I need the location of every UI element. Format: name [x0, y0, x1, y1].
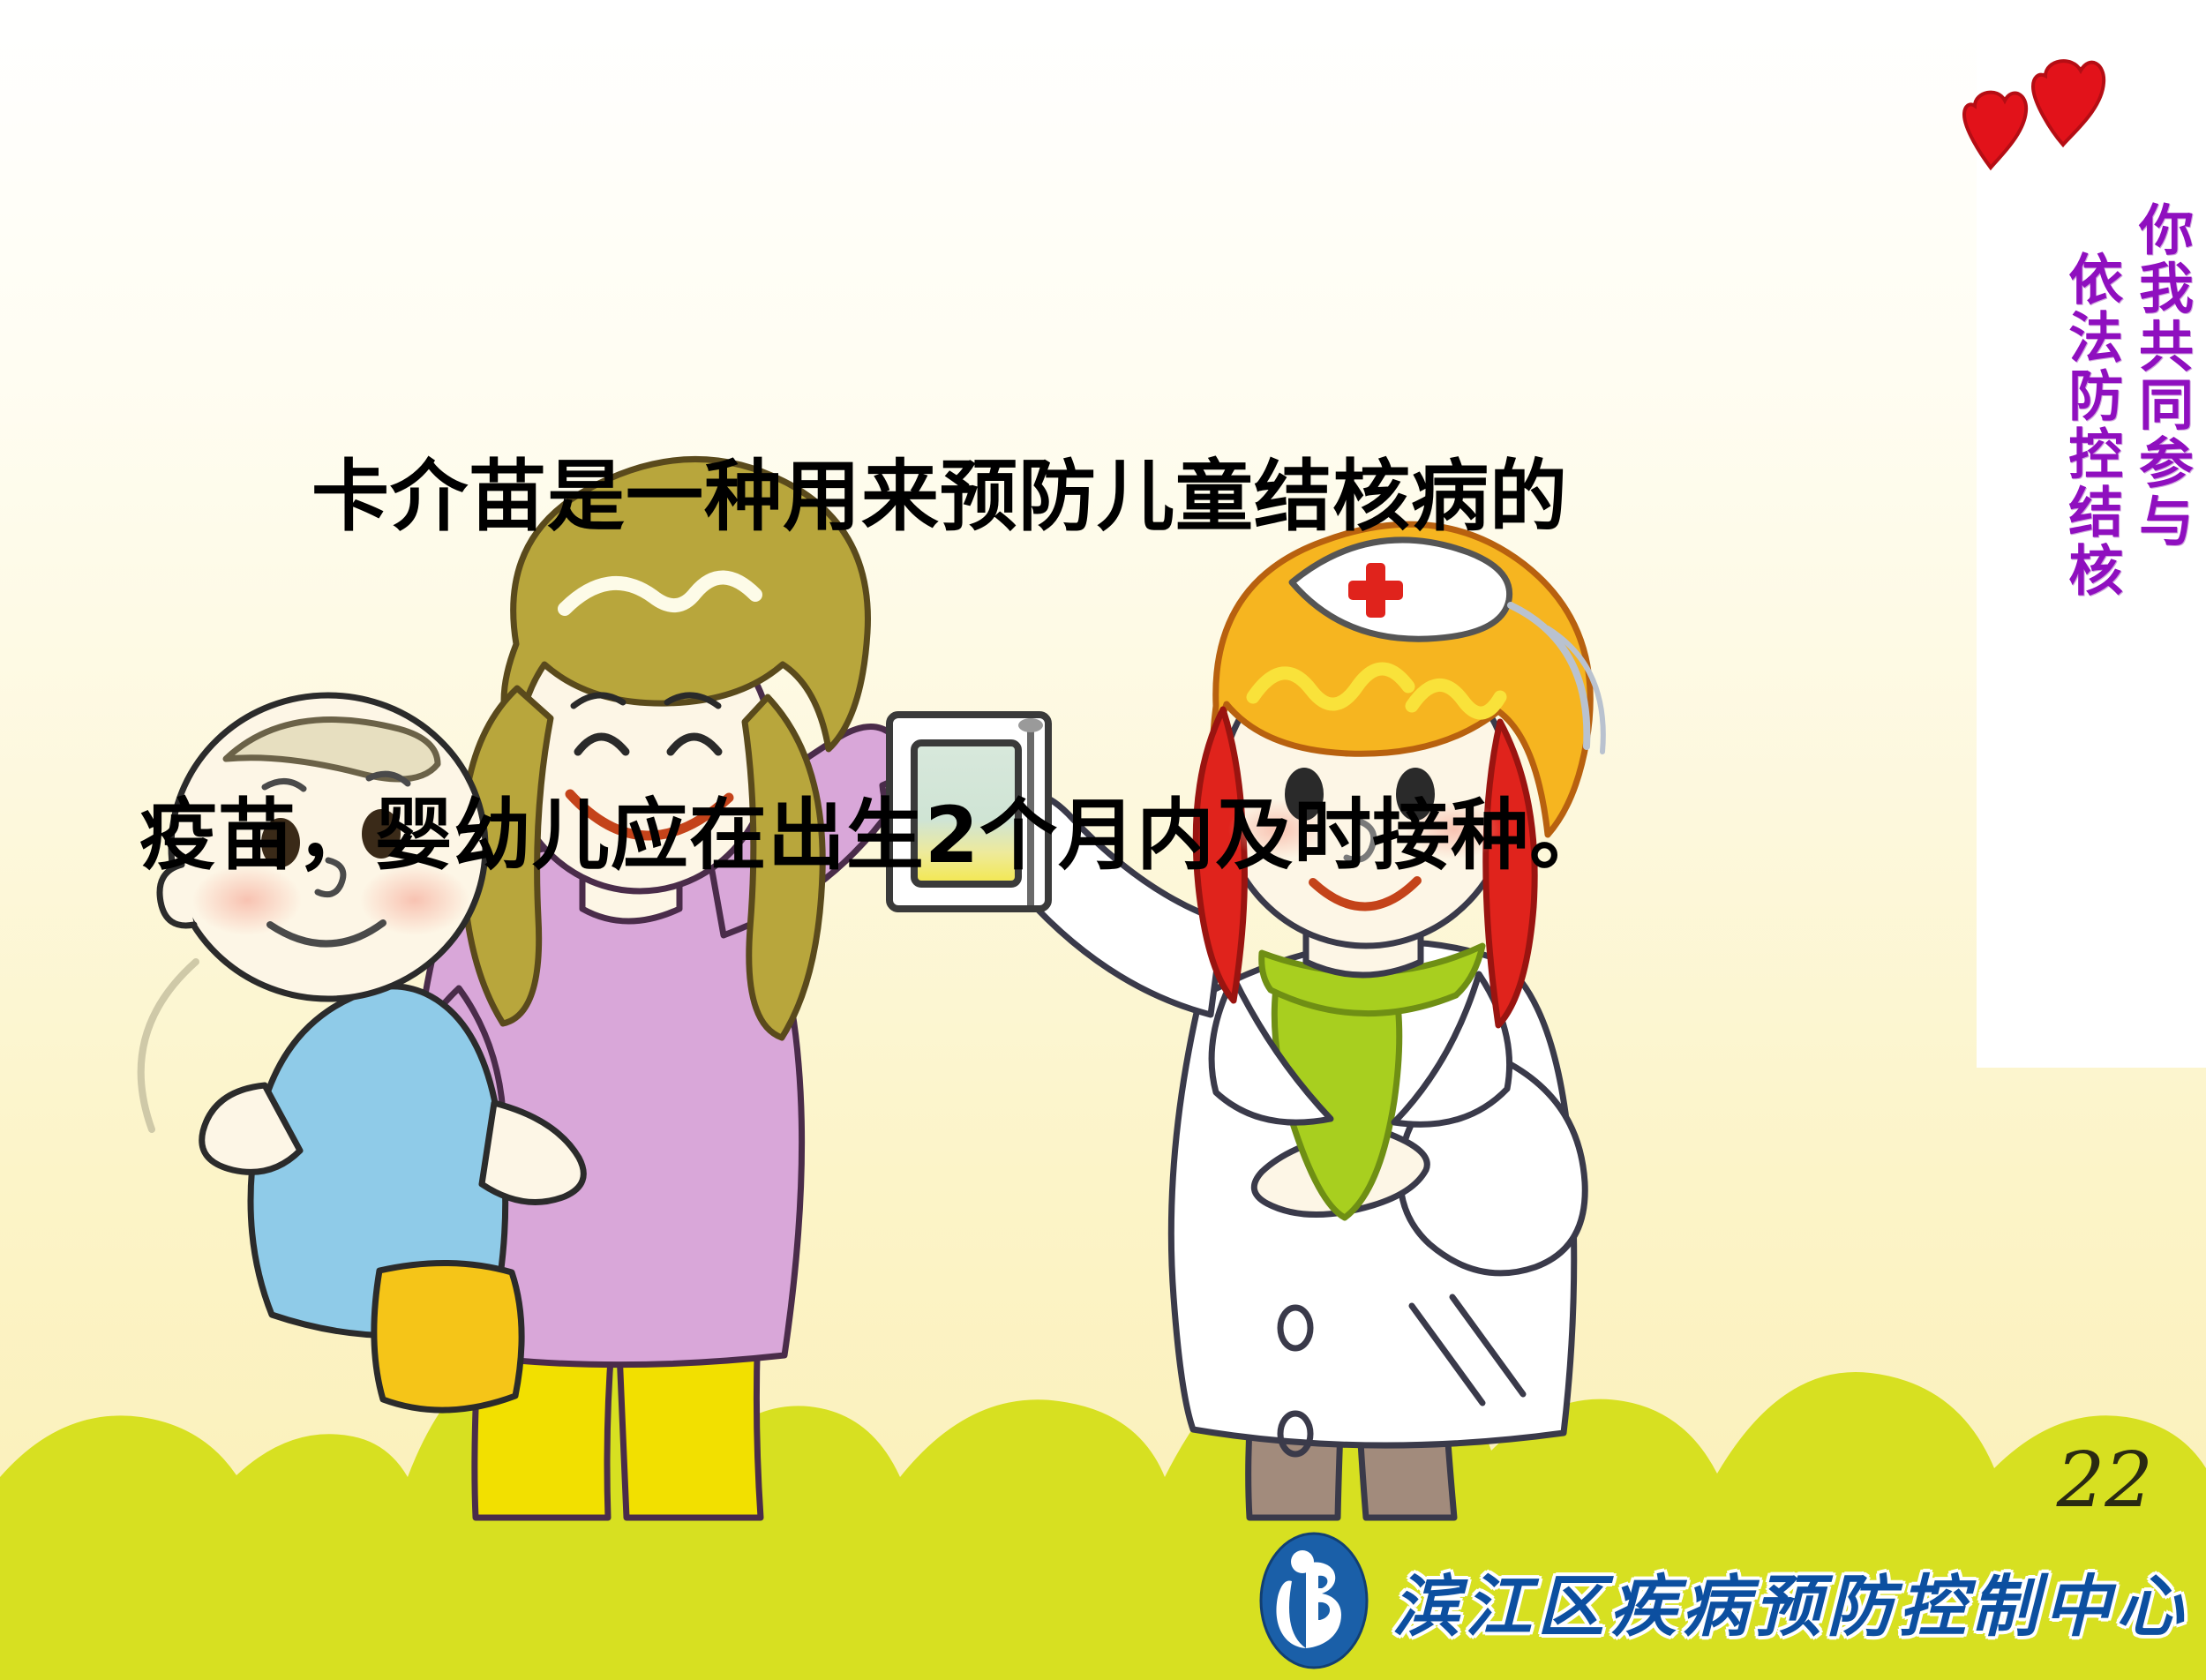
headline-line-1: 卡介苗是一种用来预防儿童结核病的 [0, 440, 1747, 553]
headline-line-2: 疫苗，婴幼儿应在出生2个月内及时接种。 [0, 779, 1747, 892]
slogan-column-2: 依法防控结核 [2062, 251, 2120, 600]
two-red-hearts-icon [1948, 53, 2107, 185]
organization-logo: 滨江区疾病预防控制中心 [1257, 1530, 2188, 1671]
organization-name: 滨江区疾病预防控制中心 [1392, 1552, 2188, 1649]
slide-canvas: 卡介苗是一种用来预防儿童结核病的 疫苗，婴幼儿应在出生2个月内及时接种。 你我共… [0, 0, 2206, 1680]
cdc-ib-logo-icon [1257, 1530, 1371, 1671]
slogan-column-1: 你我共同参与 [2132, 201, 2190, 600]
page-title: 卡介苗是一种用来预防儿童结核病的 疫苗，婴幼儿应在出生2个月内及时接种。 [0, 214, 1747, 1118]
page-number: 22 [2057, 1436, 2153, 1525]
slogan-vertical-text: 你我共同参与 依法防控结核 [1987, 201, 2190, 600]
